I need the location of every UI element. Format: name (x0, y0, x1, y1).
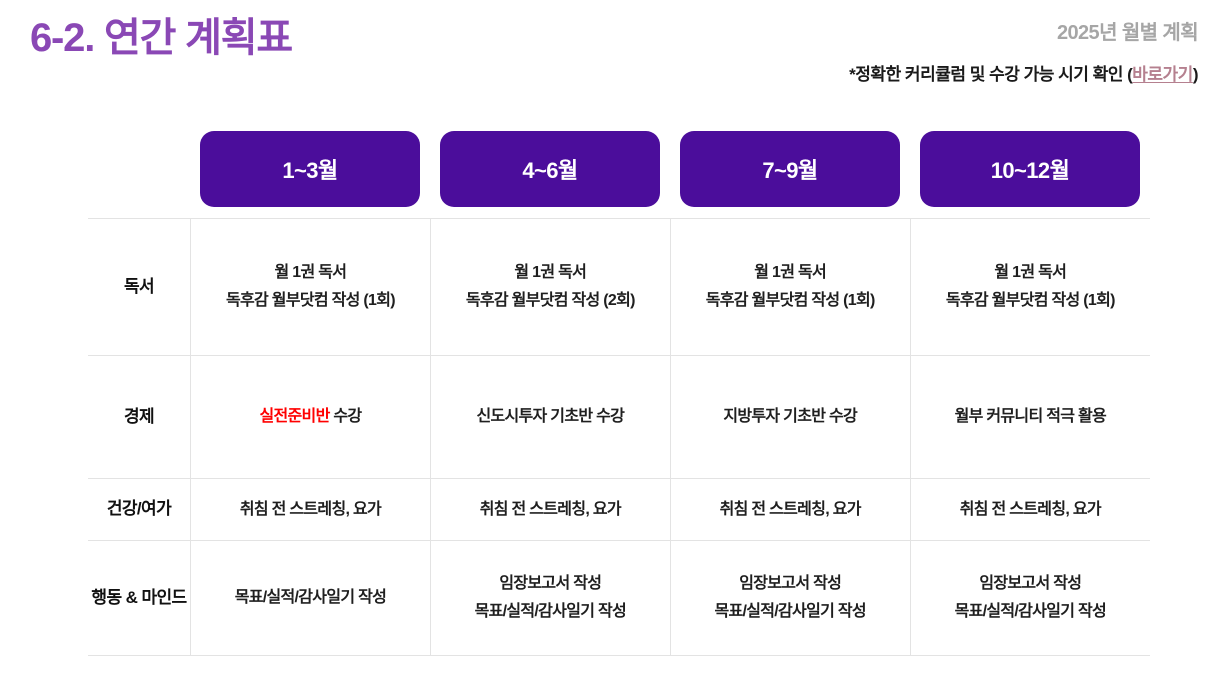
quarter-pill-q1[interactable]: 1~3월 (200, 131, 420, 207)
table-row: 경제 실전준비반 수강 신도시투자 기초반 수강 지방투자 기초반 수강 월부 … (88, 356, 1150, 479)
cell-line: 목표/실적/감사일기 작성 (431, 598, 670, 626)
curriculum-note-prefix: *정확한 커리큘럼 및 수강 가능 시기 확인 ( (849, 65, 1132, 84)
page-subtitle: 2025년 월별 계획 (849, 20, 1198, 46)
quarter-pill-cell: 7~9월 (670, 131, 910, 207)
cell-line: 임장보고서 작성 (911, 570, 1150, 598)
table-row: 독서 월 1권 독서 독후감 월부닷컴 작성 (1회) 월 1권 독서 독후감 … (88, 219, 1150, 356)
cell-line: 취침 전 스트레칭, 요가 (671, 496, 910, 524)
row-label-economy: 경제 (88, 356, 191, 479)
cell-line: 실전준비반 수강 (191, 403, 430, 431)
page-title: 6-2. 연간 계획표 (30, 14, 292, 62)
cell-line: 월부 커뮤니티 적극 활용 (911, 403, 1150, 431)
row-label-line: 독서 (124, 277, 154, 296)
cell-line: 독후감 월부닷컴 작성 (1회) (191, 287, 430, 315)
cell-economy-q2: 신도시투자 기초반 수강 (430, 356, 670, 479)
quarter-pill-cell: 4~6월 (430, 131, 670, 207)
header-right-block: 2025년 월별 계획 *정확한 커리큘럼 및 수강 가능 시기 확인 (바로가… (849, 20, 1198, 85)
quarter-pill-q2[interactable]: 4~6월 (440, 131, 660, 207)
cell-line: 지방투자 기초반 수강 (671, 403, 910, 431)
highlighted-course-name: 실전준비반 (259, 408, 329, 425)
cell-economy-q3: 지방투자 기초반 수강 (670, 356, 910, 479)
quarter-pill-cell: 10~12월 (910, 131, 1150, 207)
curriculum-note-suffix: ) (1193, 65, 1198, 84)
cell-action-q2: 임장보고서 작성 목표/실적/감사일기 작성 (430, 541, 670, 656)
cell-line: 목표/실적/감사일기 작성 (671, 598, 910, 626)
cell-health-q4: 취침 전 스트레칭, 요가 (910, 479, 1150, 541)
cell-line: 임장보고서 작성 (431, 570, 670, 598)
quarter-header-spacer (88, 131, 190, 207)
cell-line: 월 1권 독서 (191, 259, 430, 287)
row-label-line: & (126, 588, 138, 607)
cell-economy-q4: 월부 커뮤니티 적극 활용 (910, 356, 1150, 479)
table-row: 행동 & 마인드 목표/실적/감사일기 작성 임장보고서 작성 목표/실적/감사… (88, 541, 1150, 656)
plan-table-body: 독서 월 1권 독서 독후감 월부닷컴 작성 (1회) 월 1권 독서 독후감 … (88, 219, 1150, 656)
cell-reading-q4: 월 1권 독서 독후감 월부닷컴 작성 (1회) (910, 219, 1150, 356)
cell-line: 임장보고서 작성 (671, 570, 910, 598)
cell-health-q3: 취침 전 스트레칭, 요가 (670, 479, 910, 541)
annual-plan-table: 독서 월 1권 독서 독후감 월부닷컴 작성 (1회) 월 1권 독서 독후감 … (88, 218, 1150, 656)
cell-line: 목표/실적/감사일기 작성 (191, 584, 430, 612)
cell-line: 독후감 월부닷컴 작성 (1회) (911, 287, 1150, 315)
cell-line: 월 1권 독서 (671, 259, 910, 287)
cell-line: 신도시투자 기초반 수강 (431, 403, 670, 431)
page-header: 6-2. 연간 계획표 2025년 월별 계획 *정확한 커리큘럼 및 수강 가… (0, 0, 1216, 112)
cell-line-rest: 수강 (330, 408, 362, 425)
cell-line: 월 1권 독서 (911, 259, 1150, 287)
curriculum-note: *정확한 커리큘럼 및 수강 가능 시기 확인 (바로가기) (849, 60, 1198, 85)
table-row: 건강/여가 취침 전 스트레칭, 요가 취침 전 스트레칭, 요가 취침 전 스… (88, 479, 1150, 541)
quarter-header-row: 1~3월 4~6월 7~9월 10~12월 (88, 131, 1150, 207)
quarter-pill-q3[interactable]: 7~9월 (680, 131, 900, 207)
cell-line: 독후감 월부닷컴 작성 (1회) (671, 287, 910, 315)
cell-line: 취침 전 스트레칭, 요가 (911, 496, 1150, 524)
row-label-health-leisure: 건강/여가 (88, 479, 191, 541)
row-label-line: 마인드 (141, 588, 186, 607)
cell-line: 월 1권 독서 (431, 259, 670, 287)
cell-action-q4: 임장보고서 작성 목표/실적/감사일기 작성 (910, 541, 1150, 656)
row-label-line: 행동 (91, 588, 121, 607)
cell-health-q1: 취침 전 스트레칭, 요가 (191, 479, 431, 541)
cell-economy-q1: 실전준비반 수강 (191, 356, 431, 479)
curriculum-link[interactable]: 바로가기 (1132, 65, 1193, 84)
row-label-line: 건강/여가 (107, 499, 171, 518)
cell-reading-q2: 월 1권 독서 독후감 월부닷컴 작성 (2회) (430, 219, 670, 356)
quarter-pill-cell: 1~3월 (190, 131, 430, 207)
cell-action-q1: 목표/실적/감사일기 작성 (191, 541, 431, 656)
cell-reading-q3: 월 1권 독서 독후감 월부닷컴 작성 (1회) (670, 219, 910, 356)
row-label-reading: 독서 (88, 219, 191, 356)
row-label-action-mind: 행동 & 마인드 (88, 541, 191, 656)
cell-line: 목표/실적/감사일기 작성 (911, 598, 1150, 626)
quarter-pill-group: 1~3월 4~6월 7~9월 10~12월 (190, 131, 1150, 207)
cell-line: 취침 전 스트레칭, 요가 (431, 496, 670, 524)
cell-health-q2: 취침 전 스트레칭, 요가 (430, 479, 670, 541)
quarter-pill-q4[interactable]: 10~12월 (920, 131, 1140, 207)
cell-reading-q1: 월 1권 독서 독후감 월부닷컴 작성 (1회) (191, 219, 431, 356)
cell-line: 취침 전 스트레칭, 요가 (191, 496, 430, 524)
cell-action-q3: 임장보고서 작성 목표/실적/감사일기 작성 (670, 541, 910, 656)
row-label-line: 경제 (124, 407, 154, 426)
cell-line: 독후감 월부닷컴 작성 (2회) (431, 287, 670, 315)
